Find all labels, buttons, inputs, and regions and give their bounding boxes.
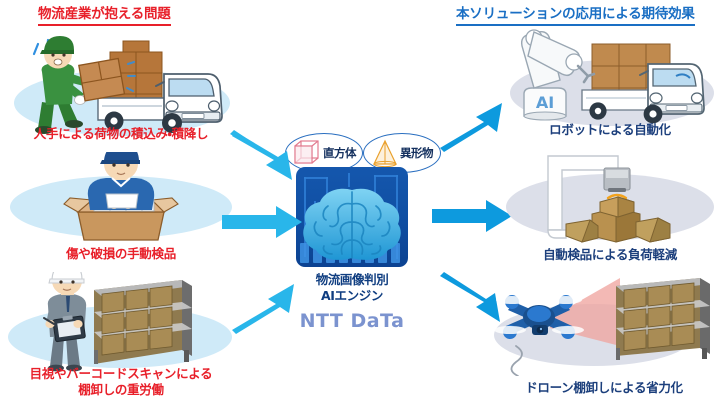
robot-ai-badge-text: AI <box>536 93 554 112</box>
caption-effect-robot-automation: ロボットによる自動化 <box>500 122 720 138</box>
arrow-problem3-to-engine <box>228 280 304 334</box>
wireframe-pyramid-icon <box>371 138 399 168</box>
drone-flight-path <box>511 346 522 376</box>
caption-line-1: 目視やバーコードスキャンによる <box>6 366 236 382</box>
caption-effect-drone-stocktaking: ドローン棚卸しによる省力化 <box>488 380 720 396</box>
caption-problem-manual-loading: 人手による荷物の積込み・積降し <box>6 126 236 142</box>
caption-line-2: 棚卸しの重労働 <box>6 382 236 398</box>
illustration-worker-with-clipboard-and-shelf-rack <box>6 272 236 372</box>
ai-engine-label-line-1: 物流画像判別 <box>286 272 418 288</box>
caption-problem-manual-inspection: 傷や破損の手動検品 <box>6 246 236 262</box>
caption-problem-manual-stocktaking: 目視やバーコードスキャンによる 棚卸しの重労働 <box>6 366 236 398</box>
arrow-problem1-to-engine <box>228 130 304 184</box>
panel-effect-drone-stocktaking <box>488 272 720 376</box>
ai-engine-label: 物流画像判別 AIエンジン <box>286 272 418 304</box>
panel-problem-manual-inspection <box>6 152 236 244</box>
illustration-drone-scanning-shelf-rack <box>488 272 720 376</box>
page-title-effects: 本ソリューションの応用による期待効果 <box>456 2 695 26</box>
infographic-canvas: 物流産業が抱える問題 本ソリューションの応用による期待効果 <box>0 0 720 407</box>
illustration-worker-inspecting-open-box <box>6 152 236 244</box>
ai-engine-label-line-2: AIエンジン <box>286 288 418 304</box>
ntt-data-logo: NTT DaTa <box>286 310 418 332</box>
illustration-overhead-scanner-over-boxes <box>500 152 720 248</box>
ai-brain-illustration <box>298 188 406 262</box>
caption-effect-auto-inspection: 自動検品による負荷軽減 <box>500 247 720 263</box>
thought-bubble-irregular-label: 異形物 <box>400 145 433 161</box>
panel-effect-auto-inspection <box>500 152 720 248</box>
page-title-problems: 物流産業が抱える問題 <box>38 2 171 26</box>
thought-bubble-cuboid-label: 直方体 <box>323 145 356 161</box>
panel-problem-manual-stocktaking <box>6 272 236 372</box>
panel-effect-robot-automation: AI <box>500 24 720 134</box>
arrow-problem2-to-engine <box>222 204 304 240</box>
illustration-robot-arm-with-ai-base-boxes-truck: AI <box>500 24 720 134</box>
